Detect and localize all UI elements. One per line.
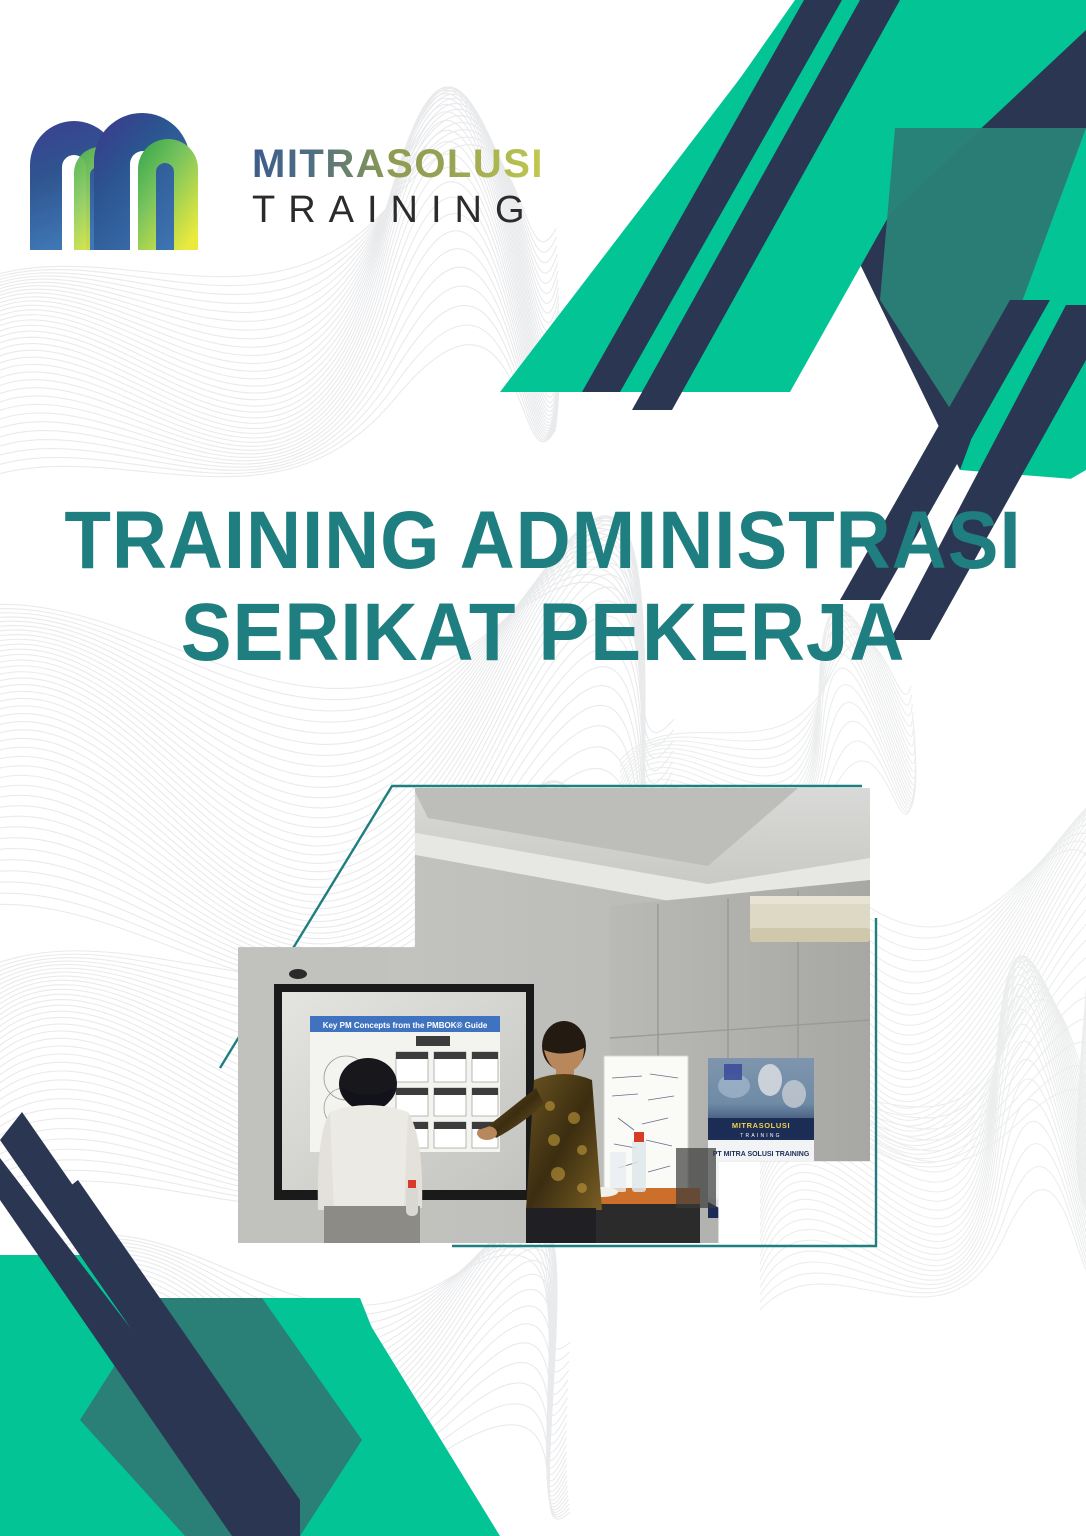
banner-company: PT MITRA SOLUSI TRAINING [713, 1151, 810, 1158]
brand-logo: MITRASOLUSI TRAINING [24, 95, 584, 270]
mitra-solusi-m-monogram-icon [24, 95, 224, 255]
brand-name-part1: MITRA [252, 142, 386, 186]
brochure-cover-page: MITRASOLUSI TRAINING TRAINING ADMINISTRA… [0, 0, 1086, 1536]
page-title-line2: SERIKAT PEKERJA [38, 587, 1048, 679]
brand-name-part2: SOLUSI [386, 142, 544, 186]
slide-title-text: Key PM Concepts from the PMBOK® Guide [323, 1021, 488, 1030]
page-title-line1: TRAINING ADMINISTRASI [38, 495, 1048, 587]
banner-brand-line1: MITRASOLUSI [732, 1121, 790, 1130]
brand-wordmark: MITRASOLUSI TRAINING [252, 143, 582, 233]
air-conditioner [750, 896, 870, 942]
training-photo-block: Key PM Concepts from the PMBOK® Guide [212, 768, 884, 1260]
banner-brand-line2: TRAINING [740, 1133, 782, 1139]
brand-tagline: TRAINING [252, 187, 582, 233]
page-title: TRAINING ADMINISTRASI SERIKAT PEKERJA [0, 495, 1086, 679]
